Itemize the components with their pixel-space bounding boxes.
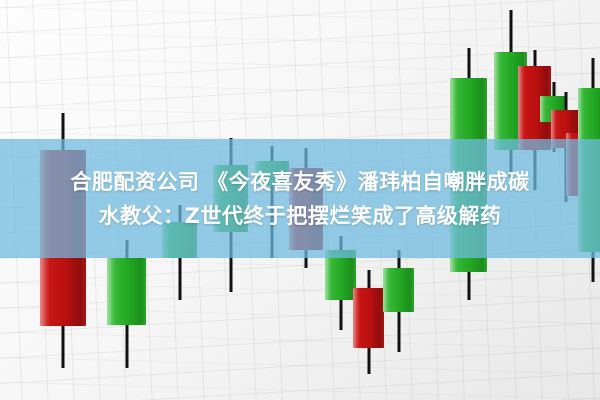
candle-9-highlight [383, 268, 390, 312]
candle-9-body [383, 268, 414, 312]
candle-11-highlight [494, 52, 501, 150]
headline-text: 合肥配资公司 《今夜喜友秀》潘玮柏自嘲胖成碳 水教父：Z世代终于把摆烂笑成了高级… [0, 139, 600, 258]
candle-8-body [353, 288, 384, 348]
candle-13-highlight [540, 96, 546, 122]
candle-2-body [107, 258, 146, 325]
headline-line-2: 水教父：Z世代终于把摆烂笑成了高级解药 [99, 199, 502, 233]
candle-12-highlight [518, 66, 525, 150]
candle-2-highlight [107, 258, 116, 325]
candlestick-chart-image: 合肥配资公司 《今夜喜友秀》潘玮柏自嘲胖成碳 水教父：Z世代终于把摆烂笑成了高级… [0, 0, 600, 400]
candle-8-highlight [353, 288, 360, 348]
headline-line-1: 合肥配资公司 《今夜喜友秀》潘玮柏自嘲胖成碳 [70, 165, 529, 199]
